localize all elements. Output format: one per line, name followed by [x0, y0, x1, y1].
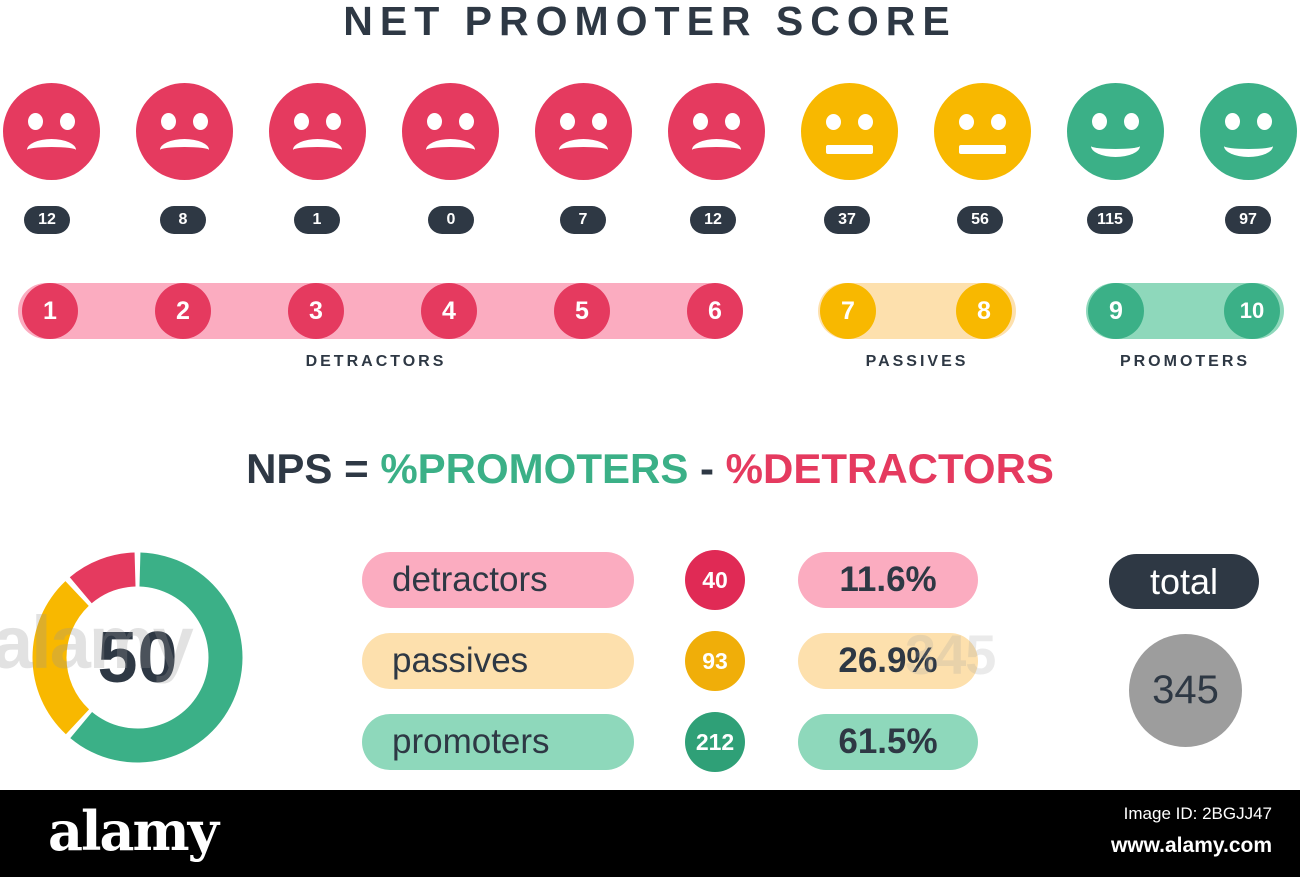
formula-operator: - — [688, 445, 725, 492]
count-badge-6: 12 — [690, 206, 736, 234]
face-icon-sad-1 — [3, 83, 100, 180]
mouth-sad-icon — [293, 139, 342, 161]
eye-left-icon — [826, 114, 841, 130]
mouth-sad-icon — [559, 139, 608, 161]
legend-count-passives: 93 — [685, 631, 745, 691]
mouth-happy-icon — [1091, 135, 1140, 157]
eye-left-icon — [560, 113, 575, 130]
legend-count-detractors: 40 — [685, 550, 745, 610]
alamy-site-url: www.alamy.com — [1111, 834, 1272, 858]
legend-row-detractors: detractors 40 11.6% — [362, 552, 982, 608]
mouth-sad-icon — [27, 139, 76, 161]
eye-left-icon — [1092, 113, 1107, 130]
formula-detractors-term: %DETRACTORS — [726, 445, 1054, 492]
legend-count-promoters: 212 — [685, 712, 745, 772]
eye-right-icon — [858, 114, 873, 130]
mouth-neutral-icon — [959, 145, 1006, 154]
face-icon-sad-3 — [269, 83, 366, 180]
detractors-track — [18, 283, 734, 339]
eye-right-icon — [1124, 113, 1139, 130]
nps-score-value: 50 — [97, 622, 177, 694]
eye-right-icon — [991, 114, 1006, 130]
face-icon-sad-4 — [402, 83, 499, 180]
count-badges-row: 12810712375611597 — [0, 206, 1300, 236]
legend-row-passives: passives 93 26.9% — [362, 633, 982, 689]
eye-right-icon — [592, 113, 607, 130]
face-icon-happy-10 — [1200, 83, 1297, 180]
total-label: total — [1109, 554, 1259, 609]
faces-row — [0, 83, 1300, 183]
face-icon-happy-9 — [1067, 83, 1164, 180]
eye-right-icon — [1257, 113, 1272, 130]
count-badge-1: 12 — [24, 206, 70, 234]
scale-bars: 1 2 3 4 5 6 DETRACTORS 7 8 PASSIVES 9 10… — [0, 283, 1300, 398]
legend-label-promoters: promoters — [362, 714, 634, 770]
legend-percent-promoters: 61.5% — [798, 714, 978, 770]
scale-knob-6[interactable]: 6 — [687, 283, 743, 339]
count-badge-4: 0 — [428, 206, 474, 234]
scale-knob-5[interactable]: 5 — [554, 283, 610, 339]
scale-knob-2[interactable]: 2 — [155, 283, 211, 339]
scale-knob-3[interactable]: 3 — [288, 283, 344, 339]
legend-percent-detractors: 11.6% — [798, 552, 978, 608]
eye-right-icon — [60, 113, 75, 130]
face-icon-neutral-8 — [934, 83, 1031, 180]
group-label-passives: PASSIVES — [818, 353, 1016, 371]
mouth-sad-icon — [426, 139, 475, 161]
donut-segment-detractors — [70, 553, 136, 604]
total-value: 345 — [1129, 634, 1242, 747]
count-badge-2: 8 — [160, 206, 206, 234]
page-title: NET PROMOTER SCORE — [0, 0, 1300, 45]
face-icon-sad-6 — [668, 83, 765, 180]
count-badge-3: 1 — [294, 206, 340, 234]
count-badge-9: 115 — [1087, 206, 1133, 234]
scale-knob-10[interactable]: 10 — [1224, 283, 1280, 339]
alamy-footer-bar: alamy Image ID: 2BGJJ47 www.alamy.com — [0, 790, 1300, 877]
legend-label-passives: passives — [362, 633, 634, 689]
eye-right-icon — [459, 113, 474, 130]
eye-left-icon — [294, 113, 309, 130]
eye-right-icon — [326, 113, 341, 130]
face-icon-neutral-7 — [801, 83, 898, 180]
scale-knob-9[interactable]: 9 — [1088, 283, 1144, 339]
scale-knob-4[interactable]: 4 — [421, 283, 477, 339]
scale-knob-1[interactable]: 1 — [22, 283, 78, 339]
eye-right-icon — [725, 113, 740, 130]
eye-left-icon — [28, 113, 43, 130]
eye-left-icon — [161, 113, 176, 130]
count-badge-5: 7 — [560, 206, 606, 234]
group-label-promoters: PROMOTERS — [1086, 353, 1284, 371]
donut-segment-passives — [32, 581, 89, 734]
formula-lead: NPS = — [246, 445, 380, 492]
mouth-sad-icon — [692, 139, 741, 161]
face-icon-sad-5 — [535, 83, 632, 180]
image-id-text: Image ID: 2BGJJ47 — [1124, 804, 1272, 824]
eye-left-icon — [959, 114, 974, 130]
eye-left-icon — [693, 113, 708, 130]
eye-left-icon — [427, 113, 442, 130]
scale-knob-8[interactable]: 8 — [956, 283, 1012, 339]
mouth-happy-icon — [1224, 135, 1273, 157]
formula-promoters-term: %PROMOTERS — [380, 445, 688, 492]
eye-right-icon — [193, 113, 208, 130]
count-badge-8: 56 — [957, 206, 1003, 234]
mouth-sad-icon — [160, 139, 209, 161]
legend-label-detractors: detractors — [362, 552, 634, 608]
infographic-canvas: NET PROMOTER SCORE 12810712375611597 1 2… — [0, 0, 1300, 790]
eye-left-icon — [1225, 113, 1240, 130]
legend-percent-passives: 26.9% — [798, 633, 978, 689]
count-badge-7: 37 — [824, 206, 870, 234]
count-badge-10: 97 — [1225, 206, 1271, 234]
summary-legend: detractors 40 11.6% passives 93 26.9% pr… — [362, 552, 982, 777]
face-icon-sad-2 — [136, 83, 233, 180]
nps-formula: NPS = %PROMOTERS - %DETRACTORS — [0, 445, 1300, 493]
scale-knob-7[interactable]: 7 — [820, 283, 876, 339]
nps-donut-chart: 50 — [10, 530, 265, 785]
alamy-logo: alamy — [48, 804, 217, 858]
mouth-neutral-icon — [826, 145, 873, 154]
group-label-detractors: DETRACTORS — [18, 353, 734, 371]
legend-row-promoters: promoters 212 61.5% — [362, 714, 982, 770]
